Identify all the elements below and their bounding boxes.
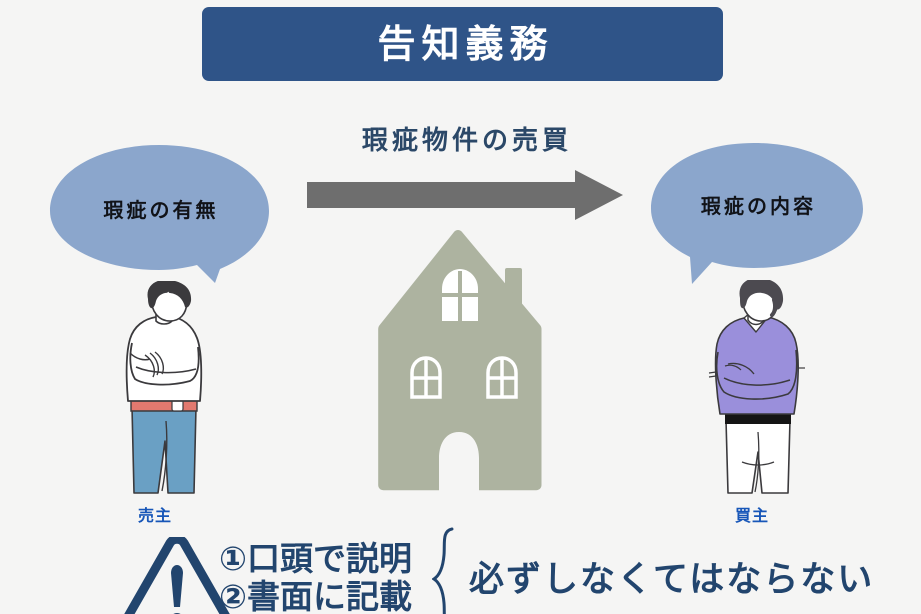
infographic-canvas: 告知義務 瑕疵の有無 瑕疵の内容 瑕疵物件の売買 [0,0,921,614]
page-title: 告知義務 [371,25,553,63]
house-icon [370,225,550,495]
buyer-role-label: 買主 [735,508,769,524]
speech-bubble-seller: 瑕疵の有無 [47,143,272,288]
speech-bubble-buyer-text: 瑕疵の内容 [648,196,866,216]
requirement-list: ①口頭で説明 ②書面に記載 [219,540,412,614]
requirement-item-1: ①口頭で説明 [219,540,412,578]
speech-bubble-seller-text: 瑕疵の有無 [47,200,272,220]
buyer-figure [702,280,812,495]
transaction-arrow-icon [305,170,625,220]
transaction-arrow-label: 瑕疵物件の売買 [290,128,640,154]
title-banner: 告知義務 [202,7,723,81]
seller-figure [112,281,217,496]
seller-role-label: 売主 [138,508,172,524]
speech-bubble-buyer: 瑕疵の内容 [648,141,866,286]
requirement-conclusion: 必ずしなくてはならない [469,563,874,598]
curly-brace [432,527,468,614]
requirement-item-2: ②書面に記載 [219,578,412,614]
